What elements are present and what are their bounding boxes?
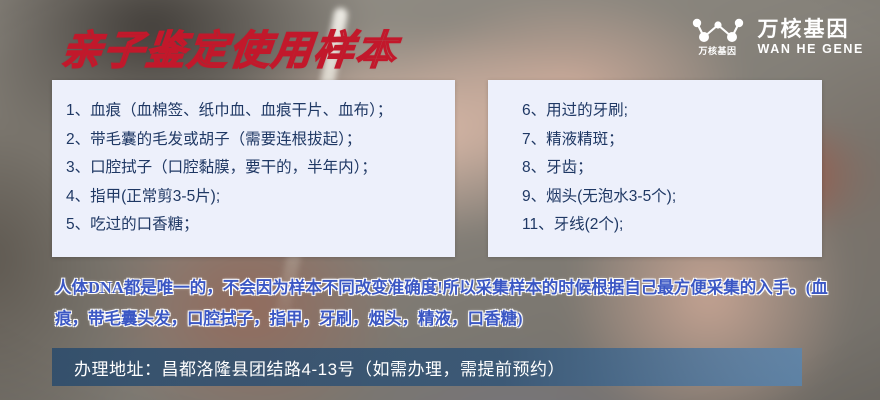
list-item: 5、吃过的口香糖； xyxy=(66,217,455,246)
brand-name-cn: 万核基因 xyxy=(758,19,865,40)
sample-list-right: 6、用过的牙刷; 7、精液精斑； 8、牙齿； 9、烟头(无泡水3-5个); 11… xyxy=(488,80,822,246)
address-banner: 办理地址：昌都洛隆县团结路4-13号（如需办理，需提前预约） xyxy=(52,348,802,386)
page-title: 亲子鉴定使用样本 xyxy=(59,18,401,76)
address-text: 办理地址：昌都洛隆县团结路4-13号（如需办理，需提前预约） xyxy=(52,355,565,380)
list-item: 4、指甲(正常剪3-5片); xyxy=(66,189,455,218)
sample-list-panel-right: 6、用过的牙刷; 7、精液精斑； 8、牙齿； 9、烟头(无泡水3-5个); 11… xyxy=(488,80,822,257)
logo-mark-label: 万核基因 xyxy=(698,47,736,56)
dna-molecule-icon xyxy=(692,18,744,44)
sample-list-left: 1、血痕（血棉签、纸巾血、血痕干片、血布）； 2、带毛囊的毛发或胡子（需要连根拔… xyxy=(52,80,455,246)
brand-logo: 万核基因 万核基因 WAN HE GENE xyxy=(692,18,865,56)
list-item: 2、带毛囊的毛发或胡子（需要连根拔起）； xyxy=(66,132,455,161)
brand-name-en: WAN HE GENE xyxy=(758,43,865,56)
list-item: 1、血痕（血棉签、纸巾血、血痕干片、血布）； xyxy=(66,103,455,132)
dna-note-paragraph: 人体DNA都是唯一的，不会因为样本不同改变准确度!所以采集样本的时候根据自己最方… xyxy=(55,272,855,334)
logo-wordmark: 万核基因 WAN HE GENE xyxy=(758,19,865,56)
list-item: 8、牙齿； xyxy=(522,160,822,189)
poster-canvas: 亲子鉴定使用样本 xyxy=(0,0,880,400)
list-item: 11、牙线(2个); xyxy=(522,217,822,246)
logo-mark: 万核基因 xyxy=(692,18,744,56)
list-item: 9、烟头(无泡水3-5个); xyxy=(522,189,822,218)
list-item: 6、用过的牙刷; xyxy=(522,103,822,132)
sample-list-panel-left: 1、血痕（血棉签、纸巾血、血痕干片、血布）； 2、带毛囊的毛发或胡子（需要连根拔… xyxy=(52,80,455,257)
list-item: 7、精液精斑； xyxy=(522,132,822,161)
list-item: 3、口腔拭子（口腔黏膜，要干的，半年内）； xyxy=(66,160,455,189)
